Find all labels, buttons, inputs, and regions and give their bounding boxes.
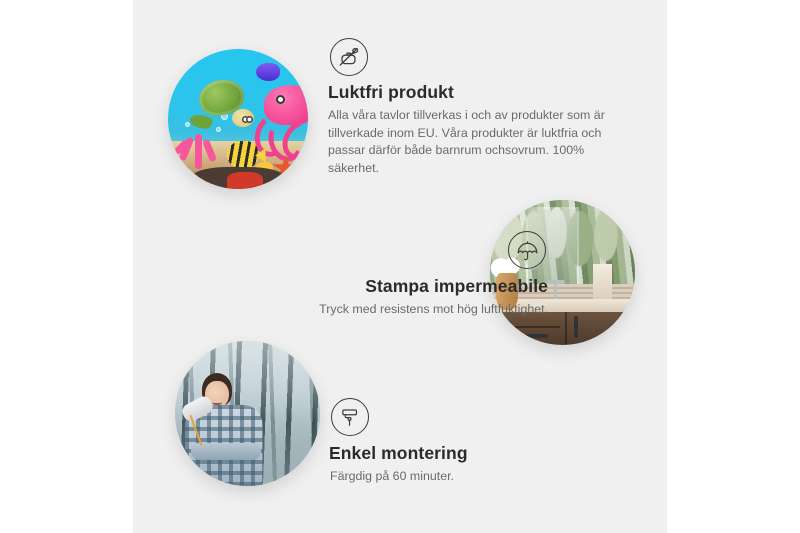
screenshot-canvas: Luktfri produkt Alla våra tavlor tillver… <box>0 0 800 533</box>
drawer-handle <box>510 334 548 338</box>
red-coral-rock <box>227 172 263 189</box>
feature-title: Enkel montering <box>329 443 619 464</box>
octopus-illustration <box>252 85 308 155</box>
feature-body: Tryck med resistens mot hög luftfuktighe… <box>218 301 548 319</box>
fish-purple <box>256 63 280 81</box>
paint-roller-held <box>182 400 213 438</box>
woman-painter <box>184 373 274 486</box>
octopus-eye <box>276 95 285 104</box>
photo-ocean-art <box>168 49 308 189</box>
feature-title: Luktfri produkt <box>328 82 628 103</box>
photo-painter-art <box>175 341 320 486</box>
turtle-head <box>232 109 254 127</box>
feature-easy-install: Enkel montering Färgdig på 60 minuter. <box>329 398 619 486</box>
content-panel: Luktfri produkt Alla våra tavlor tillver… <box>133 0 667 533</box>
feature-waterproof: Stampa impermeabile Tryck med resistens … <box>218 231 548 319</box>
photo-painter <box>175 341 320 486</box>
no-odor-perfume-bottle-icon <box>330 38 368 76</box>
feature-title: Stampa impermeabile <box>218 276 548 297</box>
fish-striped <box>227 141 258 169</box>
cabinet-handle <box>574 316 578 337</box>
feature-body: Färgdig på 60 minuter. <box>329 468 619 486</box>
towel <box>593 264 612 302</box>
feature-body: Alla våra tavlor tillverkas i och av pro… <box>328 107 624 177</box>
umbrella-icon <box>508 231 546 269</box>
paint-roller-icon <box>331 398 369 436</box>
feature-odorless: Luktfri produkt Alla våra tavlor tillver… <box>328 38 628 177</box>
coral-illustration <box>176 122 218 170</box>
photo-ocean <box>168 49 308 189</box>
